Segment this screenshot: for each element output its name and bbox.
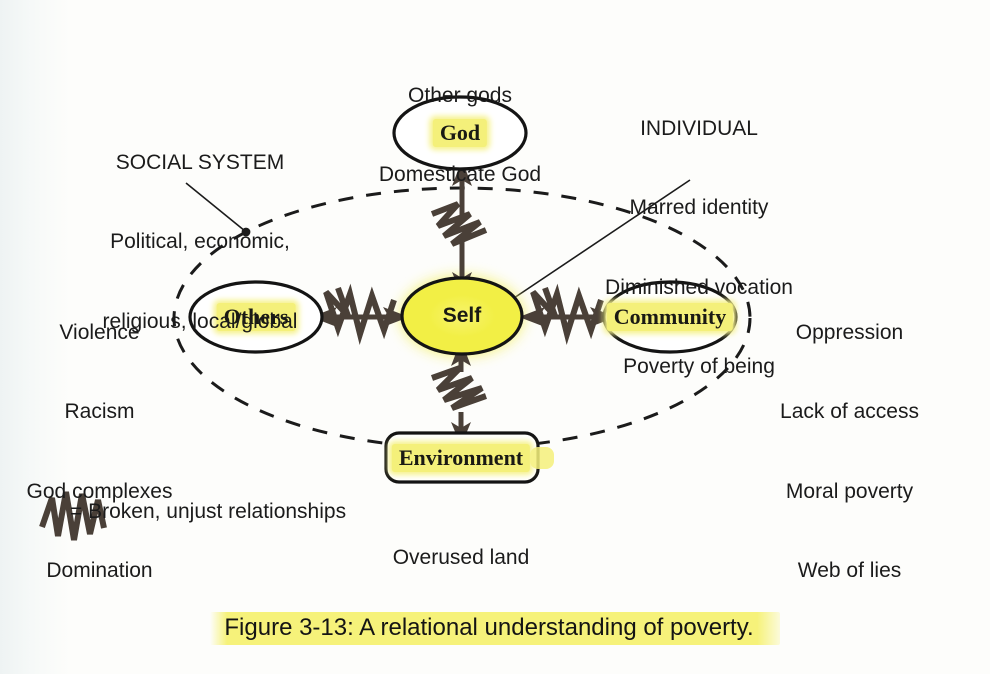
figure-canvas: God Others Self Community Environment Ot… (0, 0, 990, 674)
annotation-god-top-line-1: Other gods (320, 83, 600, 109)
annotation-social-system-line-2: Political, economic, (55, 229, 345, 255)
node-self-label: Self (436, 303, 489, 329)
annotation-others-left-line-4: Domination (2, 558, 197, 584)
environment-highlight-bleed (530, 447, 554, 469)
annotation-god-top-line-2: Domesticate God (320, 162, 600, 188)
annotation-individual-line-1: INDIVIDUAL (566, 116, 832, 142)
annotation-god-top: Other gods Domesticate God (320, 30, 600, 242)
annotation-others-left: Violence Racism God complexes Domination (2, 267, 197, 637)
edge-self-environment (432, 340, 486, 446)
legend-label: = Broken, unjust relationships (70, 500, 346, 524)
annotation-community-right-line-1: Oppression (742, 320, 957, 346)
annotation-community-right-line-4: Web of lies (742, 558, 957, 584)
annotation-others-left-line-2: Racism (2, 399, 197, 425)
annotation-environment-bottom-line-1: Overused land (351, 545, 571, 571)
annotation-environment-bottom: Overused land Poor land No land (351, 492, 571, 674)
figure-caption-text: Figure 3-13: A relational understanding … (210, 612, 779, 645)
node-environment-label: Environment (392, 444, 530, 472)
annotation-community-right-line-3: Moral poverty (742, 479, 957, 505)
annotation-individual-line-2: Marred identity (566, 195, 832, 221)
figure-caption: Figure 3-13: A relational understanding … (0, 612, 990, 645)
annotation-social-system-line-1: SOCIAL SYSTEM (55, 150, 345, 176)
annotation-community-right: Oppression Lack of access Moral poverty … (742, 267, 957, 637)
annotation-others-left-line-1: Violence (2, 320, 197, 346)
annotation-community-right-line-2: Lack of access (742, 399, 957, 425)
